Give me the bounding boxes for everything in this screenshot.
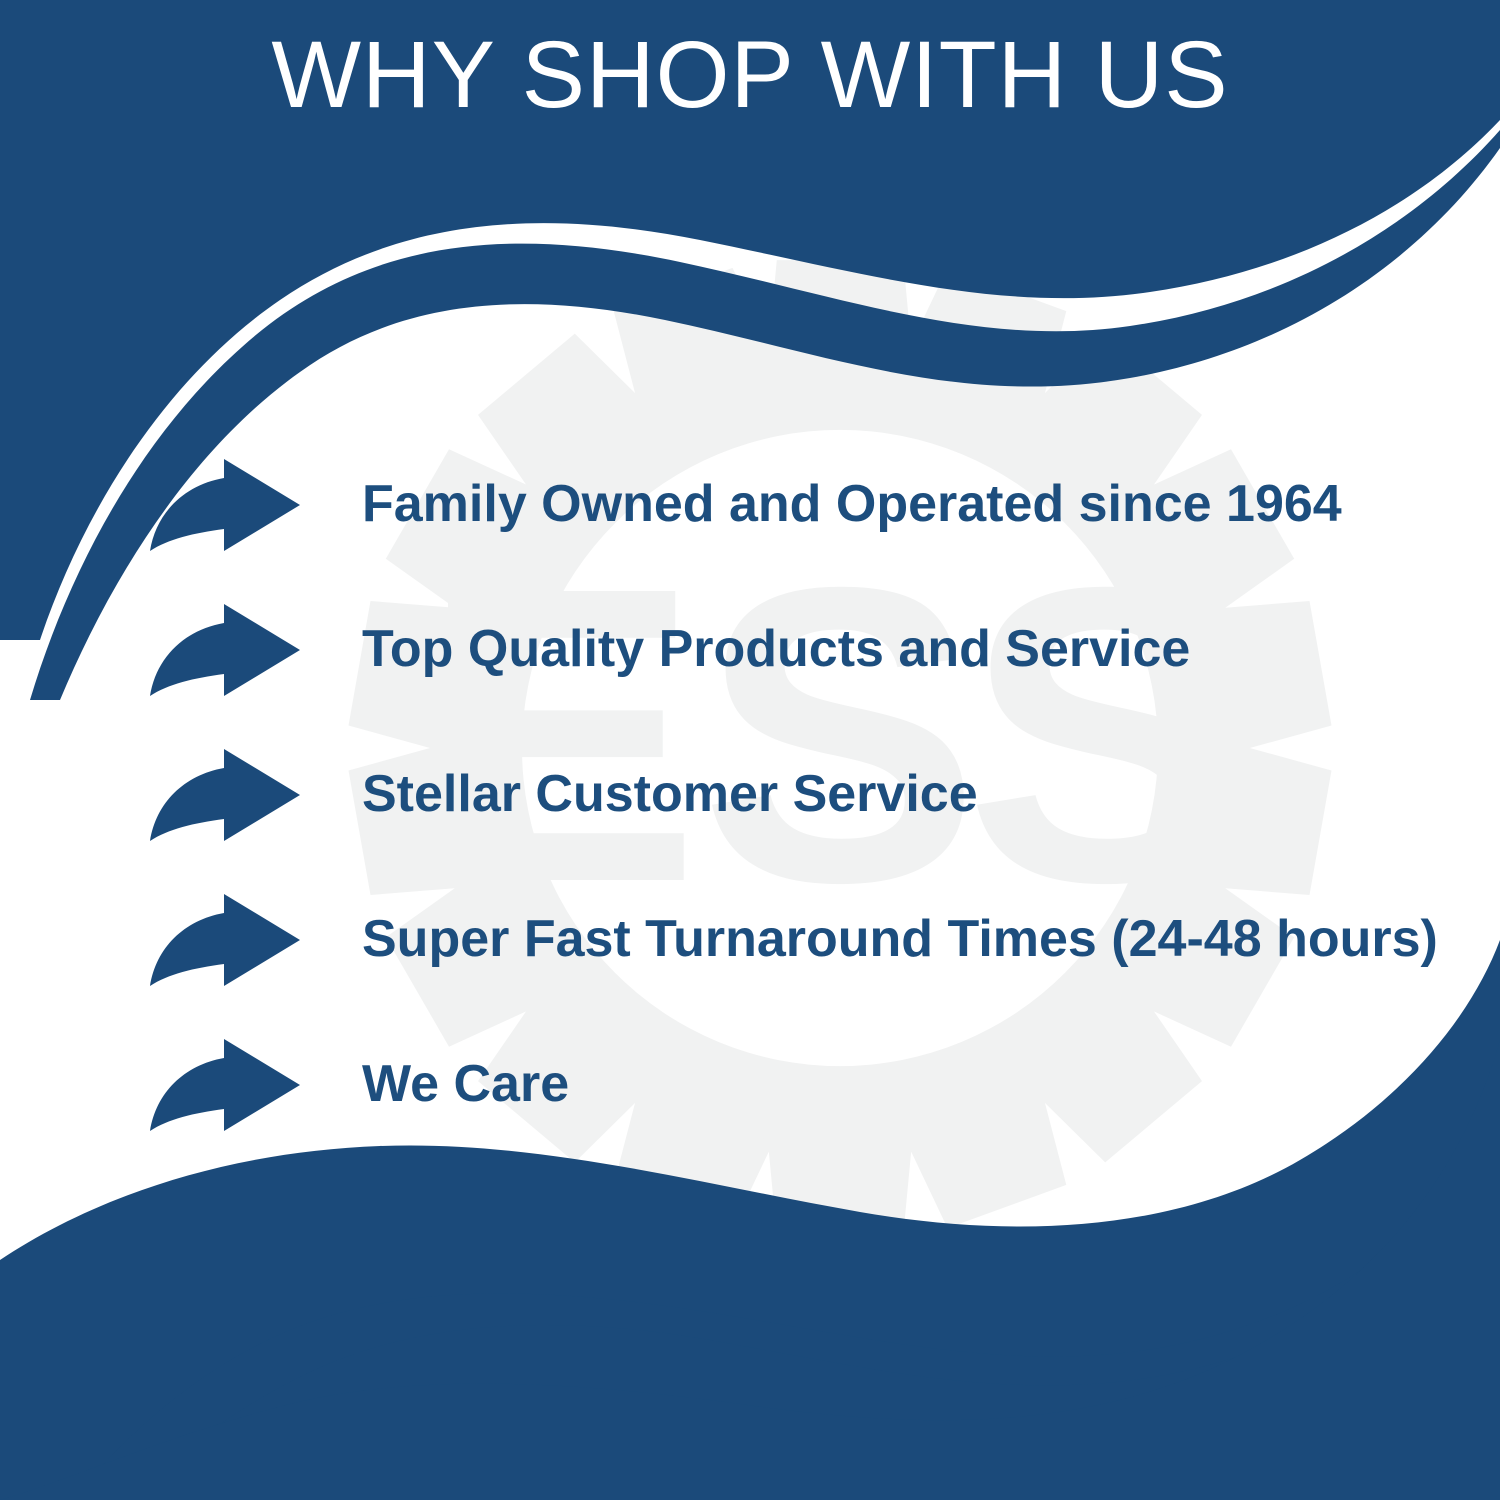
header-banner: WHY SHOP WITH US	[0, 0, 1500, 150]
page-title: WHY SHOP WITH US	[271, 28, 1228, 123]
curved-arrow-icon	[150, 1039, 300, 1131]
promo-graphic: E S S WHY SHOP WITH US	[0, 0, 1500, 1500]
curved-arrow-icon	[150, 459, 300, 551]
list-item-label: Super Fast Turnaround Times (24-48 hours…	[362, 912, 1438, 967]
benefits-list: Family Owned and Operated since 1964 Top…	[150, 432, 1450, 1157]
list-item-label: We Care	[362, 1057, 569, 1112]
list-item-label: Stellar Customer Service	[362, 767, 978, 822]
list-item: We Care	[150, 1012, 1450, 1157]
curved-arrow-icon	[150, 604, 300, 696]
list-item: Stellar Customer Service	[150, 722, 1450, 867]
list-item-label: Family Owned and Operated since 1964	[362, 477, 1342, 532]
list-item: Family Owned and Operated since 1964	[150, 432, 1450, 577]
list-item: Top Quality Products and Service	[150, 577, 1450, 722]
curved-arrow-icon	[150, 894, 300, 986]
curved-arrow-icon	[150, 749, 300, 841]
list-item: Super Fast Turnaround Times (24-48 hours…	[150, 867, 1450, 1012]
list-item-label: Top Quality Products and Service	[362, 622, 1190, 677]
